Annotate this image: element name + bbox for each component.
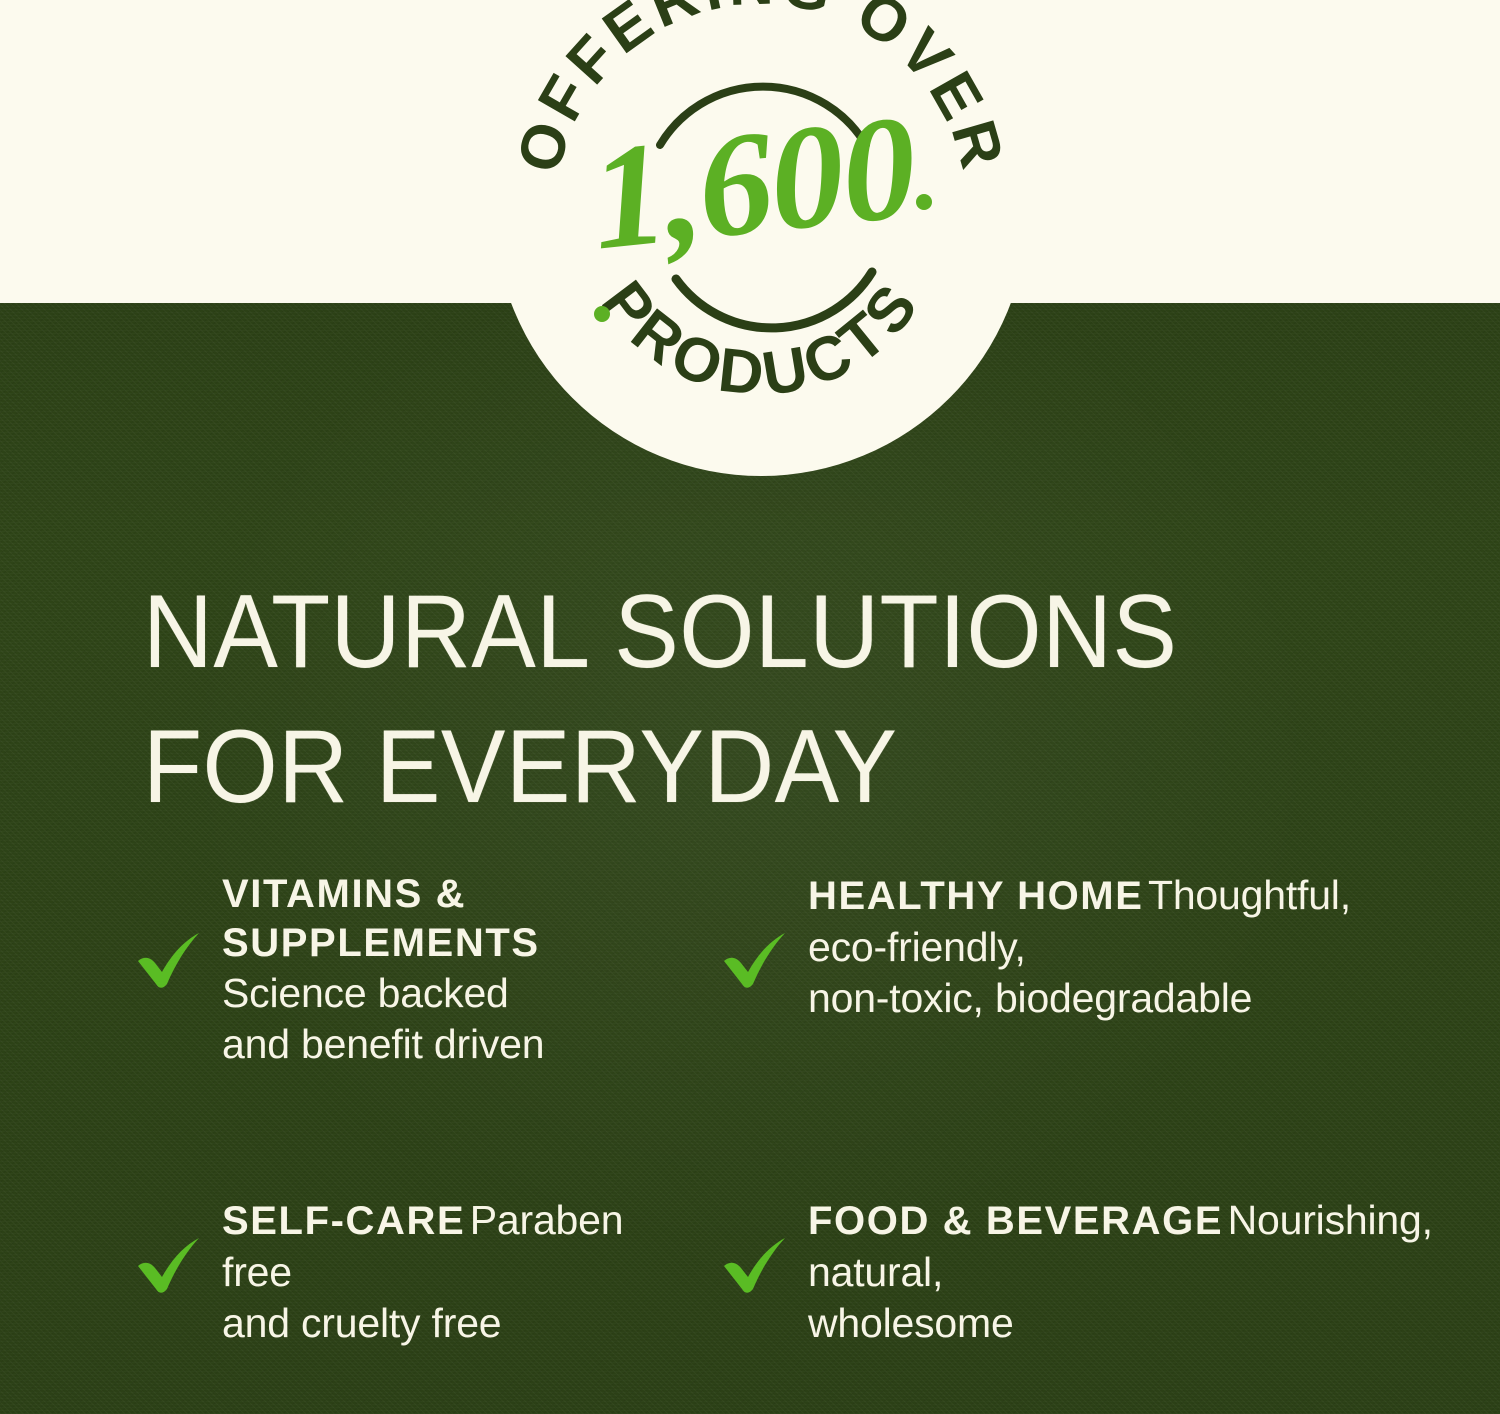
headline-line-2: FOR EVERYDAY xyxy=(143,700,1315,835)
feature-row: SELF-CARE Paraben free and cruelty free … xyxy=(0,1193,1500,1350)
check-icon xyxy=(134,1229,206,1301)
feature-item-healthy-home: HEALTHY HOME Thoughtful, eco-friendly, n… xyxy=(680,868,1440,1071)
headline-line-1: NATURAL SOLUTIONS xyxy=(143,565,1315,700)
offering-products-seal: OFFERING OVER PRODUCTS 1,600 xyxy=(494,0,1028,476)
feature-title: VITAMINS & SUPPLEMENTS xyxy=(222,872,540,965)
seal-dot-left xyxy=(594,306,610,322)
seal-dot-right xyxy=(916,194,932,210)
feature-text: VITAMINS & SUPPLEMENTS Science backed an… xyxy=(222,868,680,1071)
feature-title: SELF-CARE xyxy=(222,1199,465,1243)
feature-text: HEALTHY HOME Thoughtful, eco-friendly, n… xyxy=(808,868,1440,1025)
feature-text: SELF-CARE Paraben free and cruelty free xyxy=(222,1193,680,1350)
check-icon xyxy=(720,1229,792,1301)
seal-number: 1,600 xyxy=(584,85,922,282)
feature-title: HEALTHY HOME xyxy=(808,874,1144,918)
check-icon xyxy=(720,924,792,996)
feature-item-food-beverage: FOOD & BEVERAGE Nourishing, natural, who… xyxy=(680,1193,1440,1350)
feature-description: Science backed and benefit driven xyxy=(222,970,544,1068)
marketing-banner: OFFERING OVER PRODUCTS 1,600 NATURAL SOL… xyxy=(0,0,1500,1414)
feature-title: FOOD & BEVERAGE xyxy=(808,1199,1223,1243)
page-title: NATURAL SOLUTIONS FOR EVERYDAY xyxy=(143,565,1315,835)
seal-bottom-arc-text: PRODUCTS xyxy=(588,269,933,410)
check-icon xyxy=(134,924,206,996)
feature-item-self-care: SELF-CARE Paraben free and cruelty free xyxy=(0,1193,680,1350)
feature-grid: VITAMINS & SUPPLEMENTS Science backed an… xyxy=(0,868,1500,1350)
feature-row: VITAMINS & SUPPLEMENTS Science backed an… xyxy=(0,868,1500,1071)
feature-item-vitamins-supplements: VITAMINS & SUPPLEMENTS Science backed an… xyxy=(0,868,680,1071)
feature-text: FOOD & BEVERAGE Nourishing, natural, who… xyxy=(808,1193,1440,1350)
